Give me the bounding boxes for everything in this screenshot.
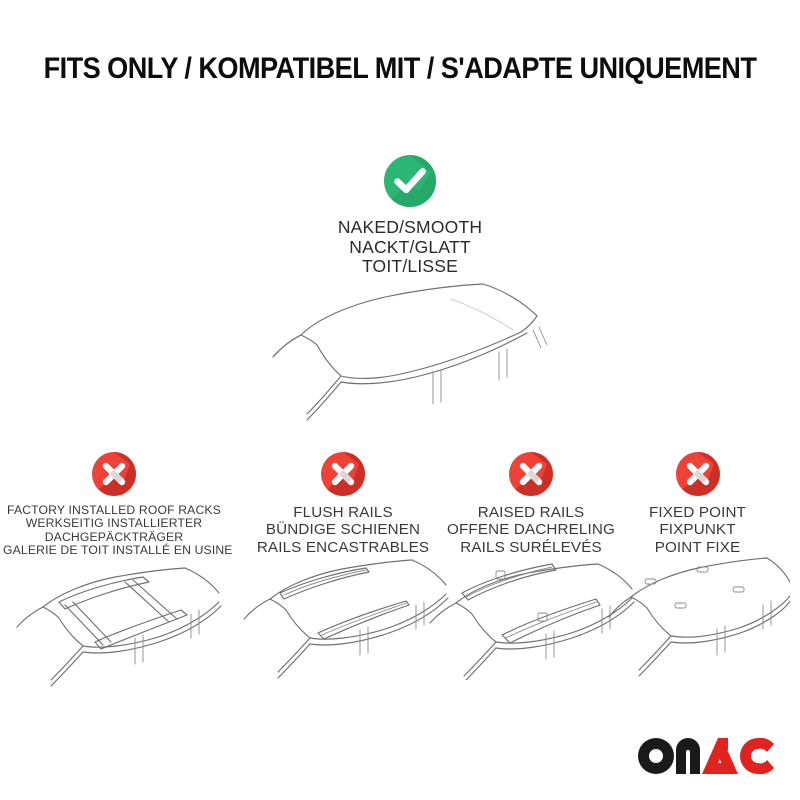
car-roof-factory-rack-illustration — [3, 552, 225, 687]
x-circle-icon — [676, 452, 720, 496]
x-circle-icon — [321, 452, 365, 496]
check-circle-icon — [384, 155, 436, 207]
x-circle-icon — [509, 452, 553, 496]
incompatible-item-factory-rack: FACTORY INSTALLED ROOF RACKS WERKSEITIG … — [3, 452, 225, 558]
incompatible-labels: FACTORY INSTALLED ROOF RACKS WERKSEITIG … — [3, 504, 225, 558]
compatible-labels: NAKED/SMOOTH NACKT/GLATT TOIT/LISSE — [260, 218, 560, 277]
car-roof-fixed-point-illustration — [605, 545, 790, 680]
page-title: FITS ONLY / KOMPATIBEL MIT / S'ADAPTE UN… — [32, 52, 768, 86]
compatible-label-line: NAKED/SMOOTH — [338, 217, 482, 237]
incompatible-item-fixed-point: FIXED POINT FIXPUNKT POINT FIXE — [605, 452, 790, 556]
incompatible-label-line: FIXPUNKT — [605, 521, 790, 538]
incompatible-label-line: WERKSEITIG INSTALLIERTER — [3, 517, 225, 530]
incompatible-section: FACTORY INSTALLED ROOF RACKS WERKSEITIG … — [0, 452, 800, 712]
incompatible-label-line: FIXED POINT — [605, 504, 790, 521]
compatible-section: NAKED/SMOOTH NACKT/GLATT TOIT/LISSE — [260, 155, 560, 277]
car-roof-naked-smooth-illustration — [245, 272, 585, 437]
compatible-label-line: NACKT/GLATT — [349, 237, 470, 257]
incompatible-label-line: FACTORY INSTALLED ROOF RACKS — [3, 504, 225, 517]
x-circle-icon — [92, 452, 136, 496]
omac-logo — [636, 736, 776, 776]
